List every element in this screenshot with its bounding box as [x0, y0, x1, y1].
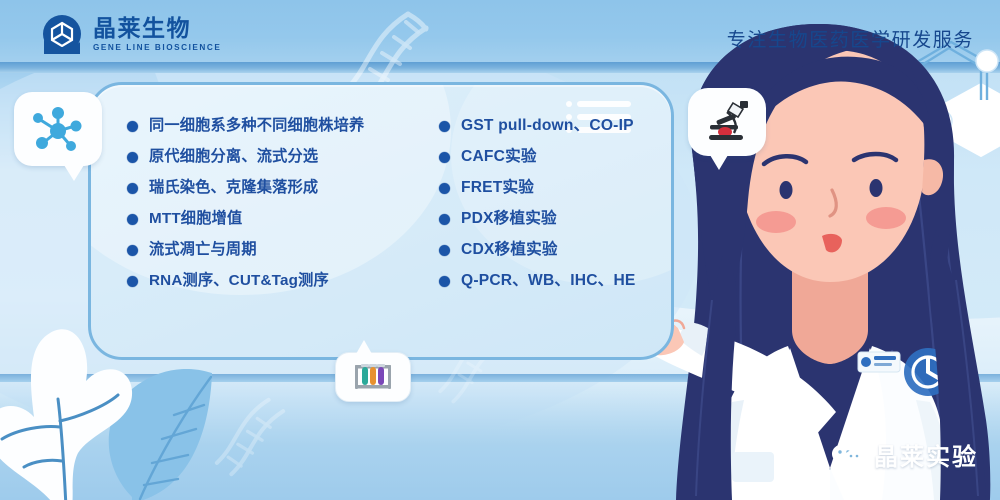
list-item-label: PDX移植实验 — [461, 211, 557, 227]
list-item: 瑞氏染色、克隆集落形成 — [127, 173, 427, 203]
list-item: PDX移植实验 — [439, 204, 669, 234]
list-item-label: 原代细胞分离、流式分选 — [149, 149, 318, 164]
molecule-network-icon — [27, 102, 89, 156]
dna-helix-icon — [205, 395, 295, 500]
logo-english-name: GENE LINE BIOSCIENCE — [93, 43, 221, 52]
list-item-label: FRET实验 — [461, 180, 534, 196]
microscope-bubble — [688, 88, 766, 156]
list-item: FRET实验 — [439, 173, 669, 203]
header-tagline: 专注生物医药医学研发服务 — [727, 25, 974, 52]
microscope-icon — [702, 99, 752, 145]
bubble-tail — [356, 340, 372, 354]
bullet-dot-icon — [127, 183, 138, 194]
bullet-dot-icon — [439, 152, 450, 163]
watermark-label: 晶莱实验 — [874, 437, 978, 472]
bullet-dot-icon — [127, 214, 138, 225]
bullet-dot-icon — [127, 152, 138, 163]
list-item-label: MTT细胞增值 — [149, 211, 242, 226]
list-item: 原代细胞分离、流式分选 — [127, 142, 427, 172]
services-card: 同一细胞系多种不同细胞株培养 原代细胞分离、流式分选 瑞氏染色、克隆集落形成 M… — [88, 82, 674, 360]
bullet-dot-icon — [127, 245, 138, 256]
logo-chinese-name: 晶莱生物 — [93, 16, 221, 40]
list-item-label: CDX移植实验 — [461, 242, 558, 258]
list-item: RNA测序、CUT&Tag测序 — [127, 266, 427, 296]
bullet-dot-icon — [439, 276, 450, 287]
list-item: CDX移植实验 — [439, 235, 669, 265]
wechat-watermark: 晶莱实验 — [831, 437, 978, 472]
list-item: MTT细胞增值 — [127, 204, 427, 234]
list-item-label: 流式凋亡与周期 — [149, 242, 257, 257]
test-tube-rack-icon — [351, 361, 395, 393]
list-item-label: RNA测序、CUT&Tag测序 — [149, 273, 329, 288]
services-right-column: GST pull-down、CO-IP CAFC实验 FRET实验 PDX移植实… — [439, 111, 669, 357]
gene-line-circle-logo-icon — [42, 14, 82, 54]
list-item-label: Q-PCR、WB、IHC、HE — [461, 273, 636, 289]
list-item: Q-PCR、WB、IHC、HE — [439, 266, 669, 296]
molecule-bubble — [14, 92, 102, 166]
bubble-tail — [64, 165, 84, 181]
list-item: 流式凋亡与周期 — [127, 235, 427, 265]
list-item: 同一细胞系多种不同细胞株培养 — [127, 111, 427, 141]
list-item: CAFC实验 — [439, 142, 669, 172]
list-item-label: 瑞氏染色、克隆集落形成 — [149, 180, 318, 195]
poster-canvas: 同一细胞系多种不同细胞株培养 原代细胞分离、流式分选 瑞氏染色、克隆集落形成 M… — [0, 0, 1000, 500]
brand-logo: 晶莱生物 GENE LINE BIOSCIENCE — [42, 14, 221, 54]
bullet-dot-icon — [127, 276, 138, 287]
list-item-label: 同一细胞系多种不同细胞株培养 — [149, 118, 364, 133]
wechat-icon — [831, 442, 865, 468]
list-item-label: CAFC实验 — [461, 149, 537, 165]
services-left-column: 同一细胞系多种不同细胞株培养 原代细胞分离、流式分选 瑞氏染色、克隆集落形成 M… — [127, 111, 427, 357]
bullet-dot-icon — [127, 121, 138, 132]
bullet-dot-icon — [439, 245, 450, 256]
list-item-label: GST pull-down、CO-IP — [461, 118, 634, 134]
female-scientist-illustration — [640, 0, 1000, 500]
services-lists: 同一细胞系多种不同细胞株培养 原代细胞分离、流式分选 瑞氏染色、克隆集落形成 M… — [91, 85, 671, 357]
bullet-dot-icon — [439, 183, 450, 194]
test-tube-bubble — [335, 352, 411, 402]
bullet-dot-icon — [439, 121, 450, 132]
bullet-dot-icon — [439, 214, 450, 225]
bubble-tail — [710, 155, 728, 170]
list-item: GST pull-down、CO-IP — [439, 111, 669, 141]
